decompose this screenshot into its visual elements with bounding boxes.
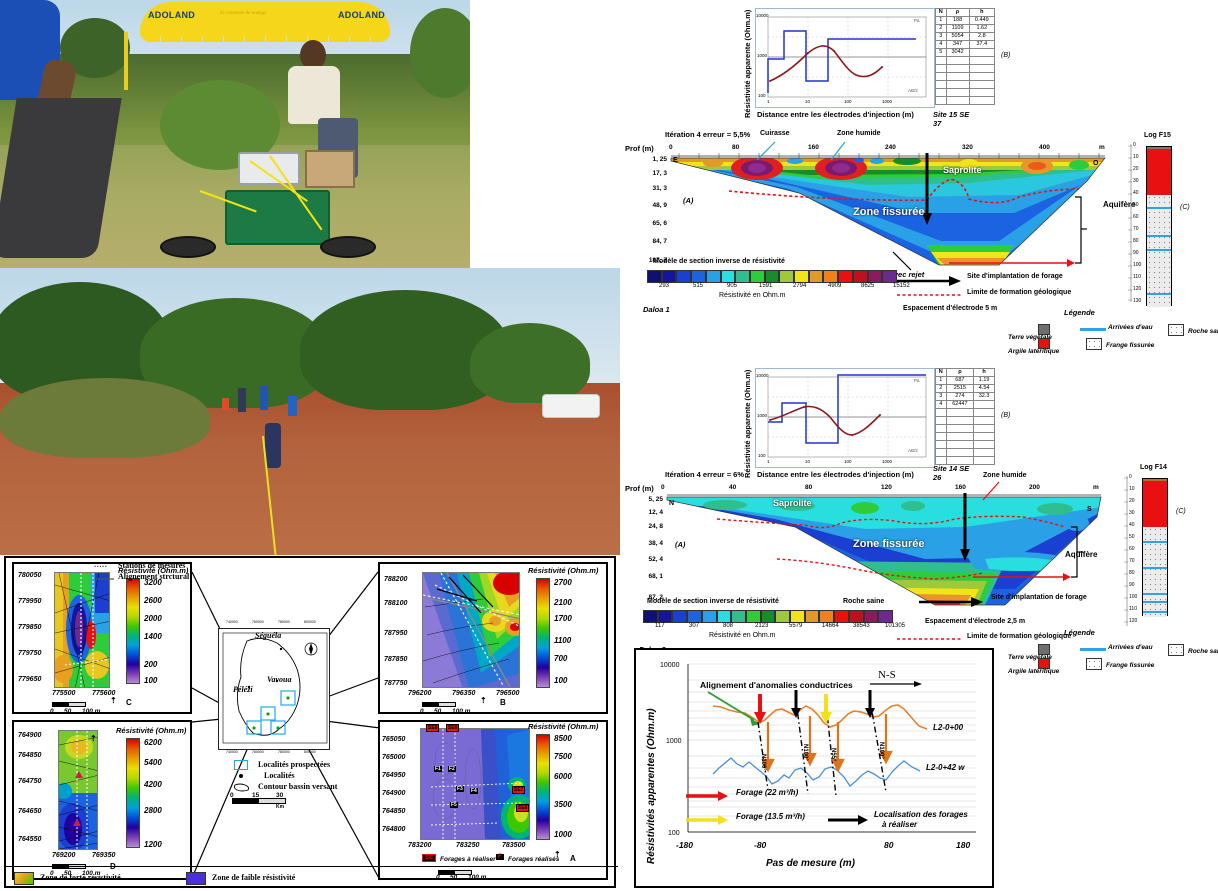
th-n: N xyxy=(936,369,947,377)
depth-tick: 5, 25 xyxy=(625,496,663,503)
log-tick: 100 xyxy=(1129,594,1137,600)
xtick: 800000 xyxy=(304,750,316,754)
ves-corner-label2: AB/2 xyxy=(908,88,918,93)
marker-SE7: SE7 xyxy=(512,786,525,794)
xtick: 769200 xyxy=(52,852,75,859)
ytick: 765050 xyxy=(382,736,405,743)
xtick: 740000 xyxy=(226,750,238,754)
ves-xtick: 1 xyxy=(767,459,770,464)
depth-tick: 52, 4 xyxy=(625,556,663,563)
scale-label: 50 xyxy=(434,708,441,715)
log-tick: 70 xyxy=(1133,226,1139,232)
svg-text:N100°: N100° xyxy=(760,754,766,771)
north-arrow-icon: ⇡ xyxy=(480,696,487,705)
xtick: 780000 xyxy=(278,620,290,624)
log-arrivee-eau xyxy=(1143,567,1167,569)
ytick: 779750 xyxy=(18,650,41,657)
swatch xyxy=(658,610,673,623)
xtick: 769350 xyxy=(92,852,115,859)
resistivity-colorscale: 117 307 808 2123 5579 14664 38543 101305… xyxy=(643,610,893,633)
log-label: Log F15 xyxy=(1144,132,1171,139)
arrivees-eau-swatch xyxy=(1080,328,1106,331)
seated-operator-body xyxy=(288,66,340,124)
legend-localisation-2: à réaliser xyxy=(882,820,917,829)
swatch xyxy=(834,610,849,623)
swatch xyxy=(819,610,834,623)
zone-humide-label: Zone humide xyxy=(983,472,1027,479)
cbar-label: 3500 xyxy=(554,800,572,809)
log-tick: 40 xyxy=(1133,190,1139,196)
depth-tick: 84, 7 xyxy=(629,238,667,245)
colorbar-B xyxy=(536,578,550,688)
log-tick: 100 xyxy=(1133,262,1141,268)
ves-parameters-table: N ρ h 11880.449 211091.62 350542.8 43473… xyxy=(935,8,995,105)
roche-saine-swatch xyxy=(1168,324,1184,336)
ves-site-label: Site 15 SE 37 xyxy=(933,110,970,128)
legend-frange-fissuree: Frange fissurée xyxy=(1106,662,1154,669)
table-row: 350542.8 xyxy=(936,33,995,41)
log-tick: 10 xyxy=(1133,154,1139,160)
legend-limite: Limite de formation géologique xyxy=(967,289,1071,296)
ytick: 764550 xyxy=(18,836,41,843)
ves-xlabel: Distance entre les électrodes d'injectio… xyxy=(757,110,914,119)
legend-f-swatch: F xyxy=(496,854,504,860)
umbrella-slogan: la commune du nodage xyxy=(220,11,267,16)
xtick: 80 xyxy=(884,840,893,850)
depth-tick: 48, 9 xyxy=(629,202,667,209)
xtick: 200 xyxy=(1029,484,1040,491)
swatch xyxy=(643,610,658,623)
swatch xyxy=(853,270,868,283)
worker-crouching xyxy=(288,396,297,416)
xtick: 796350 xyxy=(452,690,475,697)
ytick: 787850 xyxy=(384,656,407,663)
xtick: 760000 xyxy=(252,750,264,754)
zone-fissuree-label: Zone fissurée xyxy=(853,538,925,550)
log-arrivee-eau xyxy=(1143,611,1167,613)
swatch xyxy=(775,610,790,623)
scale-label: 30 xyxy=(276,792,283,799)
panel-id-C: C xyxy=(126,698,132,707)
table-row: 53042 xyxy=(936,49,995,57)
depth-tick: 24, 8 xyxy=(625,523,663,530)
saprolite-label: Saprolite xyxy=(943,165,982,175)
cbar-label: 1400 xyxy=(144,632,162,641)
scale-value: 14664 xyxy=(822,623,839,629)
log-tick: 80 xyxy=(1133,238,1139,244)
log-depth-scale: 0 10 20 30 40 50 60 70 80 90 100 110 120 xyxy=(1124,476,1136,628)
ves-xtick: 100 xyxy=(844,99,852,104)
scale-value: 307 xyxy=(689,623,699,629)
cbar-label: 6200 xyxy=(144,738,162,747)
svg-text:L2-0+42 w: L2-0+42 w xyxy=(926,763,965,772)
depth-tick: 12, 4 xyxy=(625,509,663,516)
legend-arrivees-eau: Arrivées d'eau xyxy=(1108,644,1153,651)
ytick: 779950 xyxy=(18,598,41,605)
swatch xyxy=(823,270,838,283)
ytick: 764750 xyxy=(18,778,41,785)
iteration-error-label: Itération 4 erreur = 5,5% xyxy=(665,130,750,139)
scale-value: 808 xyxy=(723,623,733,629)
svg-text:N55°: N55° xyxy=(830,748,836,762)
svg-text:Alignement d'anomalies conduct: Alignement d'anomalies conductrices xyxy=(700,680,853,690)
legend-alignment: Alignement strctural xyxy=(118,572,189,581)
ves-xtick: 10 xyxy=(805,459,810,464)
scale-value: 2794 xyxy=(793,283,806,289)
locator-map: Séguéla Vavoua Pélézi xyxy=(218,628,330,750)
cbar-label: 100 xyxy=(554,676,567,685)
log-tick: 20 xyxy=(1133,166,1139,172)
legend-se-swatch: SE xyxy=(422,854,436,862)
xtick: 796500 xyxy=(496,690,519,697)
cbar-label: 1000 xyxy=(554,830,572,839)
roche-saine-swatch xyxy=(1168,644,1184,656)
cbar-label: 7500 xyxy=(554,752,572,761)
swatch xyxy=(662,270,677,283)
arrivees-eau-swatch xyxy=(1080,648,1106,651)
pickup-truck xyxy=(542,394,600,418)
cbar-label: 1100 xyxy=(554,636,571,645)
zone-humide-leader xyxy=(973,480,1013,502)
swatch xyxy=(794,270,809,283)
place-vavoua: Vavoua xyxy=(267,675,291,684)
colorbar-title: Résistivité (Ohm.m) xyxy=(116,726,186,735)
resistivity-map-C xyxy=(54,572,110,688)
marker-SE8: SE8 xyxy=(426,724,439,732)
cbar-label: 1200 xyxy=(144,840,162,849)
xtick: 80 xyxy=(805,484,812,491)
bottom-legend-bar: Zone de forte résistivité Zone de faible… xyxy=(6,866,618,890)
direction-right: O xyxy=(1093,160,1098,167)
worker-standing xyxy=(238,388,246,412)
log-tick: 60 xyxy=(1129,546,1135,552)
panel-tag-A: (A) xyxy=(683,196,693,205)
battery-box xyxy=(305,150,355,188)
legend-arrivees-eau: Arrivées d'eau xyxy=(1108,324,1153,331)
ves-ylabel: Résistivité apparente (Ohm.m) xyxy=(743,10,752,118)
panel-tag-C: (C) xyxy=(1180,204,1190,211)
legend-forage-135: Forage (13.5 m³/h) xyxy=(736,812,805,821)
zone-fissuree-label: Zone fissurée xyxy=(853,206,925,218)
cbar-label: 2800 xyxy=(144,806,162,815)
scale-value: 905 xyxy=(727,283,737,289)
legend-contour-bassin: Contour bassin versant xyxy=(258,782,337,791)
cable-reel xyxy=(320,236,376,258)
scale-value: 293 xyxy=(659,283,669,289)
legend-forages-realises: Forages réalisés xyxy=(508,856,559,863)
borehole-log-f14: Log F14 0 10 20 30 40 50 60 70 80 90 100… xyxy=(1096,466,1218,634)
log-tick: 120 xyxy=(1129,618,1137,624)
scale-value: 1591 xyxy=(759,283,772,289)
chart-ylabel: Résistivités apparentes (Ohm.m) xyxy=(646,708,657,864)
colorbar-D xyxy=(126,738,140,848)
umbrella-pole xyxy=(124,32,128,90)
legend-localites: Localités xyxy=(264,771,295,780)
legend-forte-resistivite: Zone de forte résistivité xyxy=(40,873,121,882)
unit-right: m xyxy=(1099,144,1105,151)
north-arrow-icon: ⇡ xyxy=(554,850,561,859)
cbar-label: 700 xyxy=(554,654,567,663)
xtick: 760000 xyxy=(252,620,264,624)
direction-left: E xyxy=(673,157,678,164)
scale-label: 15 xyxy=(252,792,259,799)
swatch xyxy=(706,270,721,283)
saprolite-label: Saprolite xyxy=(773,498,812,508)
ytick: 788200 xyxy=(384,576,407,583)
log-column-f15 xyxy=(1146,146,1172,306)
swatch xyxy=(838,270,853,283)
xtick: 160 xyxy=(955,484,966,491)
swatch xyxy=(647,270,662,283)
svg-text:N100°: N100° xyxy=(878,742,884,759)
xtick: 783500 xyxy=(502,842,525,849)
scalebar-B xyxy=(422,702,456,707)
swatch xyxy=(672,610,687,623)
electrode-spacing: Espacement d'électrode 2,5 m xyxy=(925,618,1025,625)
swatch xyxy=(676,270,691,283)
xtick: 0 xyxy=(661,484,665,491)
log-tick: 110 xyxy=(1129,606,1137,612)
table-row: 462447 xyxy=(936,401,995,409)
ves-ytick: 100 xyxy=(758,453,766,458)
table-row: 211091.62 xyxy=(936,25,995,33)
locator-xticks-top: 740000 760000 780000 800000 xyxy=(218,620,330,628)
panel-tag-B: (B) xyxy=(1001,52,1010,59)
legend-localites-prospectees: Localités prospectées xyxy=(258,760,330,769)
field-profile-photo xyxy=(0,268,620,555)
cbar-label: 8500 xyxy=(554,734,572,743)
scale-value: 8625 xyxy=(861,283,874,289)
map-composite-panel: 780050 779950 779850 779750 779650 xyxy=(4,556,616,888)
map-panel-A: 765050 765000 764950 764900 764850 76480… xyxy=(378,720,608,880)
legend-argile-lateritique: Argile latéritique xyxy=(1008,668,1059,675)
log-frange-fissuree xyxy=(1147,195,1171,307)
swatch xyxy=(687,610,702,623)
direction-right: S xyxy=(1087,506,1092,513)
marker-F1: F1 xyxy=(434,766,442,772)
swatch xyxy=(765,270,780,283)
scale-unit: Km xyxy=(276,804,284,810)
cbar-label: 1700 xyxy=(554,614,572,623)
panel-tag-A: (A) xyxy=(675,540,685,549)
legend-forage: Site d'implantation de forage xyxy=(991,594,1087,601)
colorbar-A xyxy=(536,734,550,840)
table-row: 225154.54 xyxy=(936,385,995,393)
resistivity-map-B xyxy=(422,572,520,688)
xtick: 783200 xyxy=(408,842,431,849)
zone-humide-label: Zone humide xyxy=(837,130,881,137)
xtick: 780000 xyxy=(278,750,290,754)
log-tick: 130 xyxy=(1133,298,1141,304)
legend-forage: Site d'implantation de forage xyxy=(967,273,1063,280)
log-arrivee-eau xyxy=(1147,207,1171,209)
direction-left: N xyxy=(669,500,674,507)
xtick: 775500 xyxy=(52,690,75,697)
table-row: 327432.3 xyxy=(936,393,995,401)
svg-text:1000: 1000 xyxy=(666,738,682,745)
scale-label: 0 xyxy=(50,708,54,715)
shrub xyxy=(0,378,210,458)
ytick: 764800 xyxy=(382,826,405,833)
cbar-label: 5400 xyxy=(144,758,162,767)
limite-dashed-icon xyxy=(897,636,965,642)
resistivity-map-D xyxy=(58,730,98,850)
legend-faible-resistivite: Zone de faible résistivité xyxy=(212,873,295,882)
xtick: -80 xyxy=(754,840,766,850)
ytick: 787750 xyxy=(384,680,407,687)
borehole-log-f15: Log F15 0 10 20 30 40 50 60 70 80 90 100… xyxy=(1122,132,1218,310)
scale-label: 50 xyxy=(64,708,71,715)
worker-bending xyxy=(265,423,281,468)
scale-title: Modèle de section inverse de résistivité xyxy=(647,598,779,605)
ytick: 764950 xyxy=(382,772,405,779)
swatch xyxy=(761,610,776,623)
colorbar-title: Résistivité (Ohm.m) xyxy=(528,566,598,575)
cbar-label: 2100 xyxy=(554,598,572,607)
log-column-f14 xyxy=(1142,478,1168,616)
scale-value: 515 xyxy=(693,283,703,289)
tree xyxy=(470,323,590,403)
annotation-leaders xyxy=(745,138,875,164)
th-rho: ρ xyxy=(946,369,974,377)
log-argile-lateritique xyxy=(1143,481,1167,527)
log-tick: 20 xyxy=(1129,498,1135,504)
faible-resistivite-swatch xyxy=(186,872,206,885)
swatch xyxy=(809,270,824,283)
xtick: 0 xyxy=(669,144,673,151)
ves-xtick: 10 xyxy=(805,99,810,104)
localites-prospectees-swatch xyxy=(234,760,248,770)
log-arrivee-eau xyxy=(1143,541,1167,543)
table-row: 16871.19 xyxy=(936,377,995,385)
swatch xyxy=(717,610,732,623)
svg-text:L2-0+00: L2-0+00 xyxy=(933,723,964,732)
log-tick: 80 xyxy=(1129,570,1135,576)
scale-value: 5579 xyxy=(789,623,802,629)
log-tick: 0 xyxy=(1129,474,1132,480)
ves-ylabel: Résistivité apparente (Ohm.m) xyxy=(743,370,752,478)
ves-xtick: 1000 xyxy=(882,99,892,104)
borehole-legend-1: Légende Terre végétale Arrivées d'eau Ro… xyxy=(1008,308,1218,348)
scale-label: 100 m xyxy=(452,708,470,715)
scale-value: 117 xyxy=(655,623,665,629)
legend-localisation-1: Localisation des forages xyxy=(874,810,968,819)
xtick: 740000 xyxy=(226,620,238,624)
swatch xyxy=(750,270,765,283)
localites-dot-icon xyxy=(239,774,243,778)
log-arrivee-eau xyxy=(1147,249,1171,251)
ves-corner-label: Pa xyxy=(914,18,920,23)
ytick: 764900 xyxy=(18,732,41,739)
scale-label: 100 m xyxy=(82,708,100,715)
log-arrivee-eau xyxy=(1143,601,1167,603)
panel-id-A: A xyxy=(570,854,576,863)
swatch xyxy=(735,270,750,283)
log-tick: 50 xyxy=(1129,534,1135,540)
ves-ytick: 100 xyxy=(758,93,766,98)
depth-tick: 65, 6 xyxy=(629,220,667,227)
scale-title: Modèle de section inverse de résistivité xyxy=(653,258,785,265)
xtick: 180 xyxy=(956,840,970,850)
swatch xyxy=(849,610,864,623)
forte-resistivite-swatch xyxy=(14,872,34,885)
ves-ytick: 10000 xyxy=(756,13,769,18)
xtick: 120 xyxy=(881,484,892,491)
log-tick: 40 xyxy=(1129,522,1135,528)
marker-SE6: SE6 xyxy=(516,804,529,812)
marker-F3: F3 xyxy=(456,786,464,792)
swatch xyxy=(864,610,879,623)
ytick: 779850 xyxy=(18,624,41,631)
panel-id-B: B xyxy=(500,698,506,707)
svg-text:10000: 10000 xyxy=(660,662,680,669)
table-row: 434737.4 xyxy=(936,41,995,49)
ves-ytick: 1000 xyxy=(757,413,767,418)
cbar-label: 2000 xyxy=(144,614,162,623)
ves-xtick: 100 xyxy=(844,459,852,464)
map-panel-B: 788200 788100 787950 787850 787750 xyxy=(378,562,608,714)
ytick: 779650 xyxy=(18,676,41,683)
ytick: 787950 xyxy=(384,630,407,637)
xtick: 400 xyxy=(1039,144,1050,151)
prof-axis-label: Prof (m) xyxy=(625,144,654,153)
log-tick: 10 xyxy=(1129,486,1135,492)
table-row: 11880.449 xyxy=(936,17,995,25)
ves-plot-area: 10000 1000 100 1 10 100 1000 Pa AB/2 xyxy=(755,368,935,468)
xtick: 320 xyxy=(962,144,973,151)
swatch xyxy=(691,270,706,283)
forage-arrow-icon xyxy=(917,596,987,608)
electrode-spacing: Espacement d'électrode 5 m xyxy=(903,305,997,312)
log-tick: 0 xyxy=(1133,142,1136,148)
log-tick: 30 xyxy=(1133,178,1139,184)
scalebar-C xyxy=(52,702,86,707)
xtick: 783250 xyxy=(456,842,479,849)
ves-curve-site15: Résistivité apparente (Ohm.m) 10000 1000… xyxy=(735,6,970,124)
cuirasse-label: Cuirasse xyxy=(760,130,790,137)
xtick: 240 xyxy=(885,144,896,151)
ves-curve-svg xyxy=(756,369,936,469)
legend-roche-saine: Roche saine xyxy=(1188,648,1218,655)
marker-F2: F2 xyxy=(448,766,456,772)
xtick: 80 xyxy=(732,144,739,151)
svg-text:N-S: N-S xyxy=(878,669,896,681)
cbar-label: 2600 xyxy=(144,596,162,605)
ves-corner-label: Pa xyxy=(914,378,920,383)
ves-ytick: 10000 xyxy=(756,373,769,378)
xtick: -180 xyxy=(676,840,693,850)
svg-text:N100°: N100° xyxy=(802,744,808,761)
swatch xyxy=(878,610,893,623)
log-tick: 30 xyxy=(1129,510,1135,516)
frange-fissuree-swatch xyxy=(1086,658,1102,670)
depth-tick: 68, 1 xyxy=(625,573,663,580)
map-panel-D: 764900 764850 764750 764650 764550 xyxy=(12,720,192,880)
marker-F4: F4 xyxy=(470,788,478,794)
forage-arrow-icon xyxy=(895,275,965,287)
swatch xyxy=(779,270,794,283)
bassin-versant-icon xyxy=(232,782,252,793)
scale-value: 38543 xyxy=(853,623,870,629)
legend-forages-a-realiser: Forages à réaliser xyxy=(440,856,496,863)
cbar-label: 2700 xyxy=(554,578,572,587)
map-panel-C: 780050 779950 779850 779750 779650 xyxy=(12,562,192,714)
umbrella-brand-right: ADOLAND xyxy=(338,10,385,20)
scale-value: 2123 xyxy=(755,623,768,629)
cbar-label: 4200 xyxy=(144,780,162,789)
marker-F5: F5 xyxy=(450,802,458,808)
legend-title: Légende xyxy=(1064,628,1095,637)
